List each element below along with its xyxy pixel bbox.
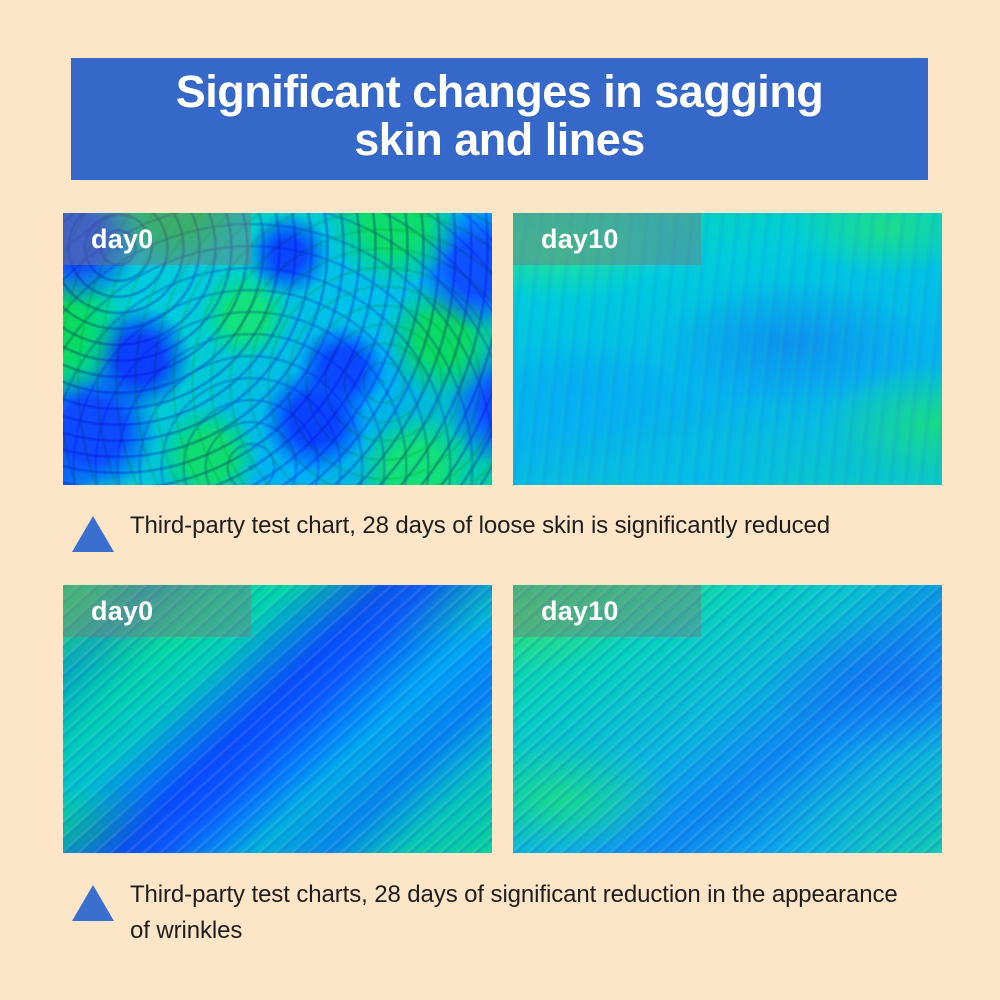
- panel-label-overlay: day10: [513, 585, 701, 637]
- panel-label-text: day0: [63, 224, 153, 255]
- triangle-bullet-icon: [72, 885, 114, 921]
- caption-text: Third-party test charts, 28 days of sign…: [130, 877, 902, 948]
- skin-scan-panel-day0-sagging[interactable]: day0: [63, 213, 492, 485]
- panel-label-text: day10: [513, 596, 619, 627]
- page-title: Significant changes in sagging skin and …: [176, 68, 824, 163]
- triangle-bullet-icon: [72, 516, 114, 552]
- caption-text: Third-party test chart, 28 days of loose…: [130, 508, 830, 544]
- panel-label-overlay: day10: [513, 213, 701, 265]
- caption-wrinkle-lines: Third-party test charts, 28 days of sign…: [72, 877, 902, 948]
- skin-scan-panel-day10-wrinkles[interactable]: day10: [513, 585, 942, 853]
- page-title-banner: Significant changes in sagging skin and …: [71, 58, 928, 180]
- panel-label-text: day10: [513, 224, 619, 255]
- skin-scan-panel-day10-sagging[interactable]: day10: [513, 213, 942, 485]
- panel-label-overlay: day0: [63, 585, 251, 637]
- comparison-row-wrinkle-lines: day0 day10: [63, 585, 942, 853]
- comparison-row-sagging-skin: day0 day10: [63, 213, 942, 485]
- caption-sagging-skin: Third-party test chart, 28 days of loose…: [72, 508, 872, 552]
- panel-label-text: day0: [63, 596, 153, 627]
- panel-label-overlay: day0: [63, 213, 251, 265]
- skin-scan-panel-day0-wrinkles[interactable]: day0: [63, 585, 492, 853]
